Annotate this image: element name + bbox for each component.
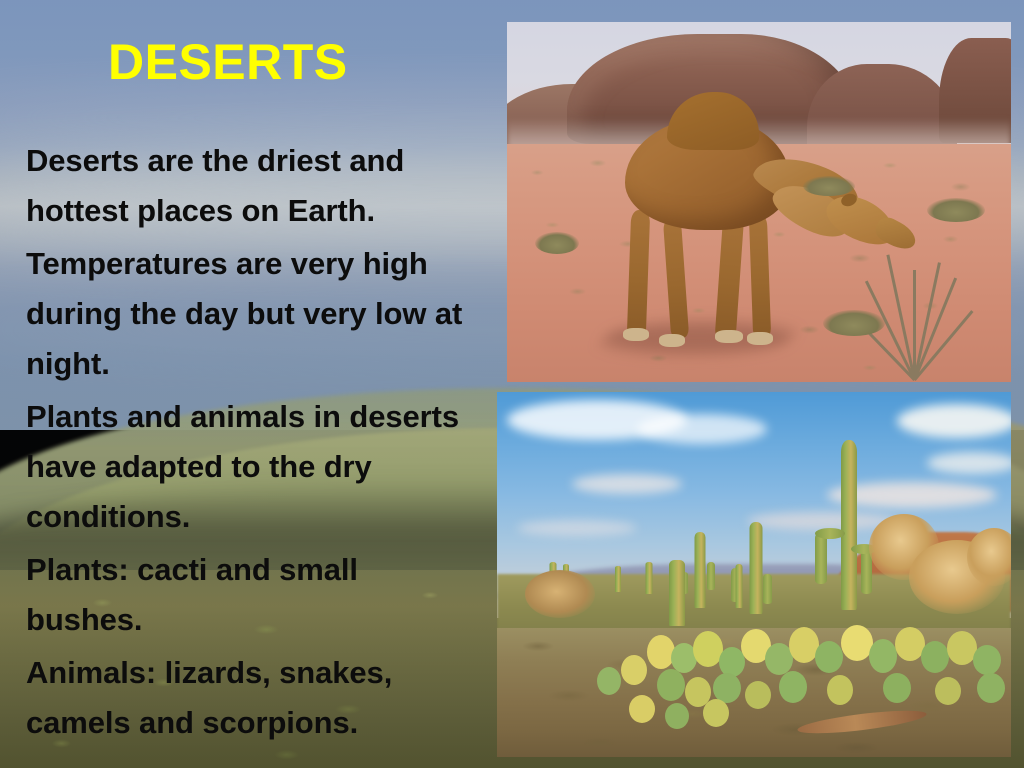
cloud: [927, 452, 1011, 474]
saguaro-cactus: [694, 532, 705, 608]
desert-bush: [803, 176, 855, 196]
camel-hoof: [659, 334, 685, 347]
saguaro-cactus: [749, 522, 762, 614]
cloud: [637, 414, 767, 444]
saguaro-cactus: [735, 564, 742, 608]
body-paragraph: Animals: lizards, snakes, camels and sco…: [26, 648, 474, 748]
camel-hoof: [623, 328, 649, 341]
prickly-pear-patch: [497, 607, 1011, 757]
camel-hoof: [715, 330, 743, 343]
camel-photo: [507, 22, 1011, 382]
cloud: [572, 474, 682, 494]
slide-deserts: DESERTS Deserts are the driest and hotte…: [0, 0, 1024, 768]
body-text-column: Deserts are the driest and hottest place…: [26, 136, 474, 751]
saguaro-cactus: [645, 562, 652, 594]
body-paragraph: Plants and animals in deserts have adapt…: [26, 392, 474, 542]
saguaro-cactus: [841, 440, 857, 610]
desert-bush: [535, 232, 579, 254]
cloud: [897, 404, 1011, 438]
camel-hoof: [747, 332, 773, 345]
body-paragraph: Temperatures are very high during the da…: [26, 239, 474, 389]
body-paragraph: Deserts are the driest and hottest place…: [26, 136, 474, 236]
cloud: [517, 520, 637, 536]
page-title: DESERTS: [108, 36, 348, 89]
desert-bush: [823, 310, 885, 336]
cactus-photo: [497, 392, 1011, 757]
dry-bush: [857, 212, 977, 380]
body-paragraph: Plants: cacti and small bushes.: [26, 545, 474, 645]
saguaro-cactus: [615, 566, 621, 592]
desert-bush: [927, 198, 985, 222]
